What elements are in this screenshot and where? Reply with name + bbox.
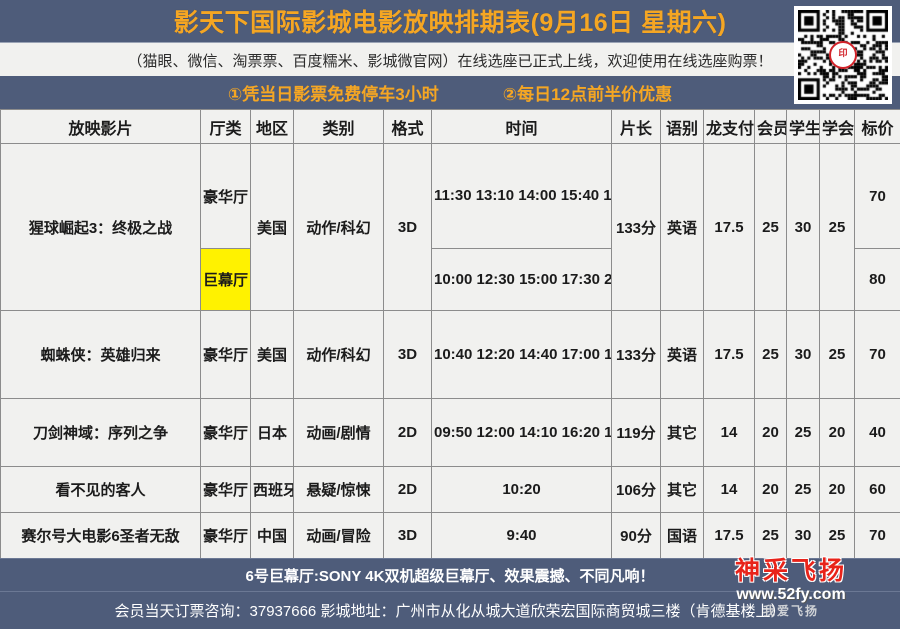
header-promo-band: ①凭当日影票免费停车3小时 ②每日12点前半价优惠 bbox=[0, 76, 900, 109]
col-header-member: 会员 bbox=[755, 110, 787, 144]
cinema-schedule-poster: 影天下国际影城电影放映排期表(9月16日 星期六) （猫眼、微信、淘票票、百度糯… bbox=[0, 0, 900, 628]
col-header-length: 片长 bbox=[612, 110, 661, 144]
cell-pay: 17.5 bbox=[704, 311, 755, 399]
cell-genre: 悬疑/惊悚 bbox=[294, 467, 384, 513]
cell-genre: 动画/剧情 bbox=[294, 399, 384, 467]
promo-parking: ①凭当日影票免费停车3小时 bbox=[228, 80, 439, 105]
cell-student: 25 bbox=[787, 399, 820, 467]
table-row: 猩球崛起3：终极之战豪华厅美国动作/科幻3D11:30 13:10 14:00 … bbox=[1, 144, 900, 249]
cell-film: 猩球崛起3：终极之战 bbox=[1, 144, 201, 311]
cell-length: 133分 bbox=[612, 144, 661, 311]
cell-member: 20 bbox=[755, 467, 787, 513]
cell-pay: 17.5 bbox=[704, 144, 755, 311]
cell-language: 国语 bbox=[661, 513, 704, 559]
cell-hall: 巨幕厅 bbox=[201, 249, 251, 311]
cell-hall: 豪华厅 bbox=[201, 467, 251, 513]
cell-length: 133分 bbox=[612, 311, 661, 399]
table-header-row: 放映影片 厅类 地区 类别 格式 时间 片长 语别 龙支付 会员 学生 学会 标… bbox=[1, 110, 900, 144]
footer-imax-note: 6号巨幕厅:SONY 4K双机超级巨幕厅、效果震撼、不同凡响！ bbox=[0, 558, 900, 592]
cell-association: 25 bbox=[820, 513, 855, 559]
cell-association: 20 bbox=[820, 399, 855, 467]
cell-film: 看不见的客人 bbox=[1, 467, 201, 513]
footer-contact: 会员当天订票咨询：37937666 影城地址：广州市从化从城大道欣荣宏国际商贸城… bbox=[0, 591, 900, 629]
cell-format: 3D bbox=[384, 144, 432, 311]
cell-length: 119分 bbox=[612, 399, 661, 467]
cell-format: 3D bbox=[384, 311, 432, 399]
cell-hall: 豪华厅 bbox=[201, 311, 251, 399]
cell-pay: 14 bbox=[704, 467, 755, 513]
table-row: 看不见的客人豪华厅西班牙悬疑/惊悚2D10:20106分其它1420252060 bbox=[1, 467, 900, 513]
page-title: 影天下国际影城电影放映排期表(9月16日 星期六) bbox=[174, 3, 727, 39]
cell-price: 70 bbox=[855, 311, 900, 399]
cell-length: 106分 bbox=[612, 467, 661, 513]
cell-length: 90分 bbox=[612, 513, 661, 559]
qr-center-seal-icon: 印 bbox=[829, 41, 857, 69]
cell-film: 蜘蛛侠：英雄归来 bbox=[1, 311, 201, 399]
col-header-hall: 厅类 bbox=[201, 110, 251, 144]
cell-format: 2D bbox=[384, 467, 432, 513]
cell-member: 25 bbox=[755, 311, 787, 399]
cell-price: 70 bbox=[855, 513, 900, 559]
promo-halfprice: ②每日12点前半价优惠 bbox=[503, 80, 672, 105]
cell-price: 60 bbox=[855, 467, 900, 513]
header-title-band: 影天下国际影城电影放映排期表(9月16日 星期六) bbox=[0, 0, 900, 42]
cell-times: 10:00 12:30 15:00 17:30 20:00 22:30 bbox=[432, 249, 612, 311]
cell-member: 20 bbox=[755, 399, 787, 467]
col-header-area: 地区 bbox=[251, 110, 294, 144]
cell-area: 日本 bbox=[251, 399, 294, 467]
cell-times: 9:40 bbox=[432, 513, 612, 559]
cell-format: 3D bbox=[384, 513, 432, 559]
cell-student: 30 bbox=[787, 513, 820, 559]
cell-student: 25 bbox=[787, 467, 820, 513]
header-subtitle-band: （猫眼、微信、淘票票、百度糯米、影城微官网）在线选座已正式上线，欢迎使用在线选座… bbox=[0, 42, 900, 78]
cell-times: 10:20 bbox=[432, 467, 612, 513]
cell-language: 英语 bbox=[661, 144, 704, 311]
cell-area: 西班牙 bbox=[251, 467, 294, 513]
cell-area: 美国 bbox=[251, 311, 294, 399]
cell-student: 30 bbox=[787, 144, 820, 311]
qr-code[interactable]: 印 bbox=[794, 6, 892, 104]
cell-association: 25 bbox=[820, 311, 855, 399]
cell-times: 10:40 12:20 14:40 17:00 19:20 21:40 24:0… bbox=[432, 311, 612, 399]
cell-film: 刀剑神域：序列之争 bbox=[1, 399, 201, 467]
table-row: 蜘蛛侠：英雄归来豪华厅美国动作/科幻3D10:40 12:20 14:40 17… bbox=[1, 311, 900, 399]
cell-hall: 豪华厅 bbox=[201, 399, 251, 467]
cell-pay: 14 bbox=[704, 399, 755, 467]
cell-price: 80 bbox=[855, 249, 900, 311]
col-header-film: 放映影片 bbox=[1, 110, 201, 144]
table-row: 赛尔号大电影6圣者无敌豪华厅中国动画/冒险3D9:4090分国语17.52530… bbox=[1, 513, 900, 559]
col-header-pay: 龙支付 bbox=[704, 110, 755, 144]
cell-genre: 动作/科幻 bbox=[294, 144, 384, 311]
cell-genre: 动画/冒险 bbox=[294, 513, 384, 559]
col-header-time: 时间 bbox=[432, 110, 612, 144]
col-header-price: 标价 bbox=[855, 110, 900, 144]
col-header-association: 学会 bbox=[820, 110, 855, 144]
cell-association: 20 bbox=[820, 467, 855, 513]
online-seat-notice: （猫眼、微信、淘票票、百度糯米、影城微官网）在线选座已正式上线，欢迎使用在线选座… bbox=[127, 50, 772, 71]
cell-language: 英语 bbox=[661, 311, 704, 399]
cell-genre: 动作/科幻 bbox=[294, 311, 384, 399]
cell-times: 11:30 13:10 14:00 15:40 16:30 18:10 19:0… bbox=[432, 144, 612, 249]
cell-student: 30 bbox=[787, 311, 820, 399]
cell-price: 40 bbox=[855, 399, 900, 467]
schedule-table: 放映影片 厅类 地区 类别 格式 时间 片长 语别 龙支付 会员 学生 学会 标… bbox=[0, 109, 900, 559]
cell-hall: 豪华厅 bbox=[201, 144, 251, 249]
footer-line-2: 会员当天订票咨询：37937666 影城地址：广州市从化从城大道欣荣宏国际商贸城… bbox=[115, 600, 786, 621]
footer-line-1: 6号巨幕厅:SONY 4K双机超级巨幕厅、效果震撼、不同凡响！ bbox=[246, 565, 655, 586]
cell-member: 25 bbox=[755, 144, 787, 311]
cell-times: 09:50 12:00 14:10 16:20 18:40 20:50 23:0… bbox=[432, 399, 612, 467]
cell-film: 赛尔号大电影6圣者无敌 bbox=[1, 513, 201, 559]
cell-format: 2D bbox=[384, 399, 432, 467]
col-header-student: 学生 bbox=[787, 110, 820, 144]
table-row: 刀剑神域：序列之争豪华厅日本动画/剧情2D09:50 12:00 14:10 1… bbox=[1, 399, 900, 467]
cell-association: 25 bbox=[820, 144, 855, 311]
cell-member: 25 bbox=[755, 513, 787, 559]
cell-hall: 豪华厅 bbox=[201, 513, 251, 559]
cell-language: 其它 bbox=[661, 399, 704, 467]
col-header-format: 格式 bbox=[384, 110, 432, 144]
col-header-genre: 类别 bbox=[294, 110, 384, 144]
qr-code-image: 印 bbox=[798, 10, 888, 100]
cell-area: 美国 bbox=[251, 144, 294, 311]
schedule-table-body: 猩球崛起3：终极之战豪华厅美国动作/科幻3D11:30 13:10 14:00 … bbox=[1, 144, 900, 559]
col-header-language: 语别 bbox=[661, 110, 704, 144]
cell-language: 其它 bbox=[661, 467, 704, 513]
cell-area: 中国 bbox=[251, 513, 294, 559]
cell-pay: 17.5 bbox=[704, 513, 755, 559]
cell-price: 70 bbox=[855, 144, 900, 249]
